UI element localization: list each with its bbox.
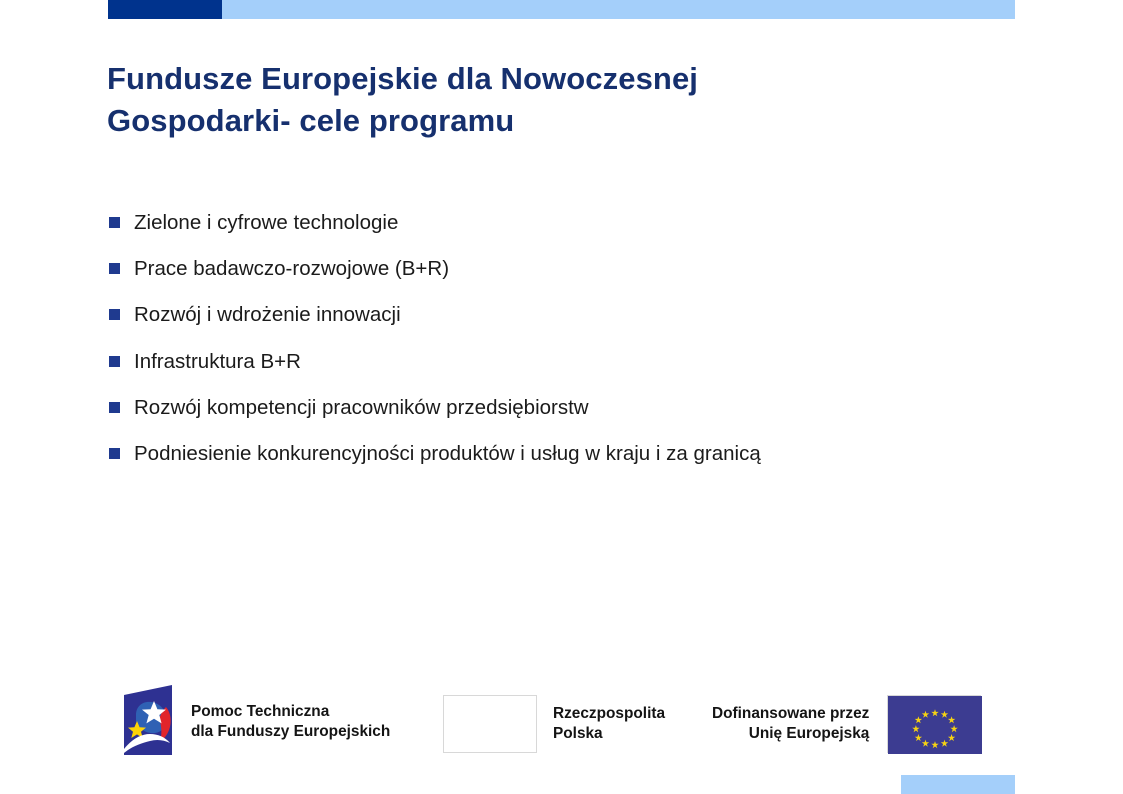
list-item-label: Infrastruktura B+R xyxy=(134,349,301,375)
list-item: Rozwój kompetencji pracowników przedsięb… xyxy=(109,395,989,441)
square-bullet-icon xyxy=(109,448,120,459)
page-title: Fundusze Europejskie dla Nowoczesnej Gos… xyxy=(107,58,867,142)
european-union-logo-line2: Unię Europejską xyxy=(749,725,870,742)
list-item: Prace badawczo-rozwojowe (B+R) xyxy=(109,256,989,302)
eu-funds-logo-line2: dla Funduszy Europejskich xyxy=(191,723,390,740)
square-bullet-icon xyxy=(109,402,120,413)
bottom-decorative-bar xyxy=(901,775,1015,794)
square-bullet-icon xyxy=(109,217,120,228)
list-item: Infrastruktura B+R xyxy=(109,349,989,395)
footer-logo-strip: Pomoc Techniczna dla Funduszy Europejski… xyxy=(108,668,1015,776)
poland-flag-icon xyxy=(443,695,537,753)
slide-canvas: Fundusze Europejskie dla Nowoczesnej Gos… xyxy=(0,0,1123,794)
top-decorative-bar xyxy=(108,0,1015,19)
goals-list: Zielone i cyfrowe technologie Prace bada… xyxy=(109,210,989,487)
eu-funds-logo: Pomoc Techniczna dla Funduszy Europejski… xyxy=(122,685,390,759)
eu-funds-logo-line1: Pomoc Techniczna xyxy=(191,703,329,720)
list-item-label: Rozwój i wdrożenie innowacji xyxy=(134,302,401,328)
topbar-light-segment xyxy=(222,0,1015,19)
square-bullet-icon xyxy=(109,263,120,274)
poland-logo-line2: Polska xyxy=(553,725,603,742)
poland-logo: Rzeczpospolita Polska xyxy=(443,695,665,753)
poland-logo-text: Rzeczpospolita Polska xyxy=(553,704,665,745)
european-union-logo-text: Dofinansowane przez Unię Europejską xyxy=(712,704,869,745)
list-item-label: Prace badawczo-rozwojowe (B+R) xyxy=(134,256,449,282)
european-union-logo-line1: Dofinansowane przez xyxy=(712,705,869,722)
european-union-flag-icon xyxy=(887,695,981,753)
square-bullet-icon xyxy=(109,309,120,320)
european-union-logo: Dofinansowane przez Unię Europejską xyxy=(712,695,981,753)
eu-funds-star-logo-icon xyxy=(122,685,178,759)
list-item-label: Podniesienie konkurencyjności produktów … xyxy=(134,441,761,467)
topbar-dark-segment xyxy=(108,0,222,19)
list-item: Zielone i cyfrowe technologie xyxy=(109,210,989,256)
list-item-label: Zielone i cyfrowe technologie xyxy=(134,210,398,236)
list-item-label: Rozwój kompetencji pracowników przedsięb… xyxy=(134,395,589,421)
poland-logo-line1: Rzeczpospolita xyxy=(553,705,665,722)
list-item: Podniesienie konkurencyjności produktów … xyxy=(109,441,989,487)
square-bullet-icon xyxy=(109,356,120,367)
list-item: Rozwój i wdrożenie innowacji xyxy=(109,302,989,348)
eu-funds-logo-text: Pomoc Techniczna dla Funduszy Europejski… xyxy=(191,702,390,743)
